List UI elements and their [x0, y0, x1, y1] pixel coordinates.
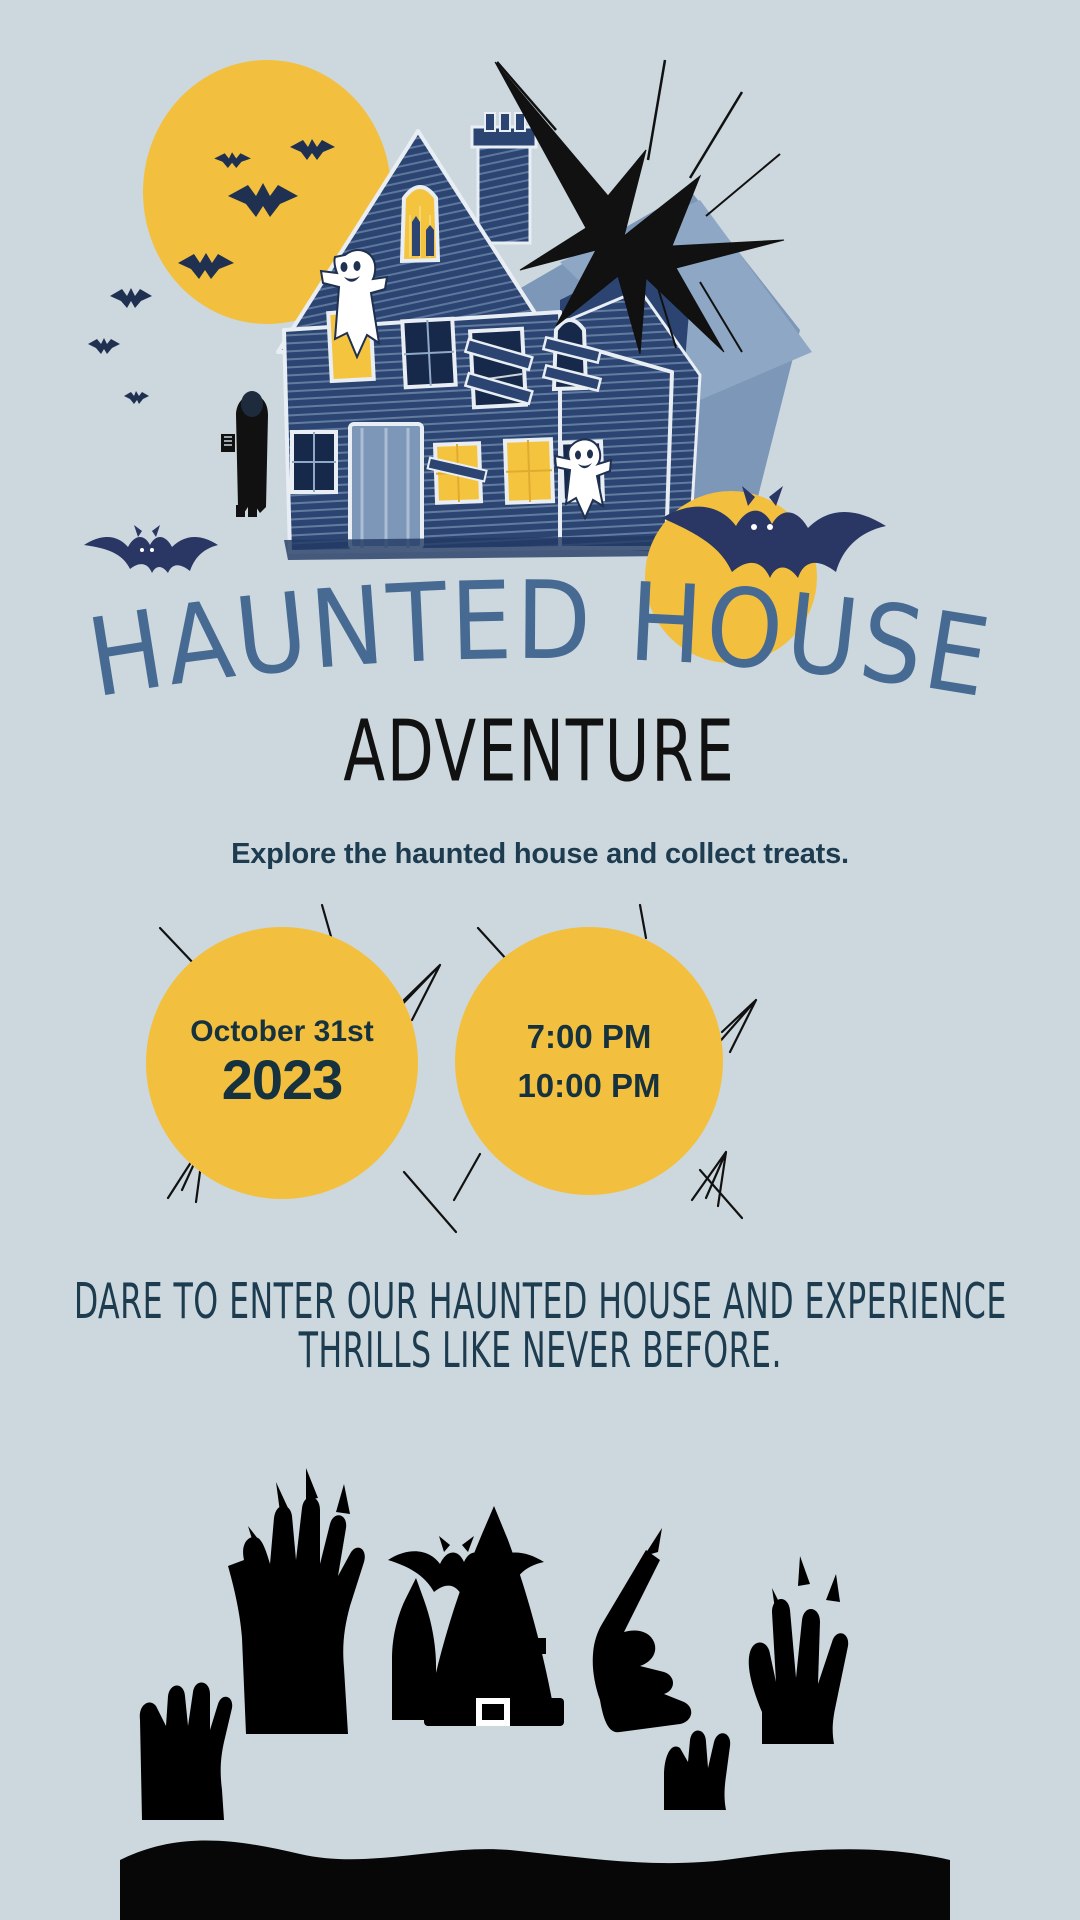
event-date-label: October 31st — [190, 1015, 373, 1050]
front-door — [350, 424, 422, 548]
attic-window — [402, 187, 438, 261]
date-badge: October 31st 2023 — [146, 927, 418, 1199]
event-time-end: 10:00 PM — [517, 1061, 660, 1111]
grim-reaper-icon — [221, 391, 268, 517]
window-broken — [465, 329, 532, 408]
bat-icon — [84, 525, 218, 573]
window-lit-3 — [505, 439, 553, 503]
tagline: Explore the haunted house and collect tr… — [0, 838, 1080, 871]
window-dark-1 — [402, 319, 455, 388]
page-subtitle: ADVENTURE — [0, 705, 1080, 805]
event-time-start: 7:00 PM — [527, 1012, 652, 1062]
zombie-hands-icon — [120, 1468, 950, 1920]
window-dark-2 — [292, 432, 336, 492]
poster-canvas: HAUNTED HOUSE ADVENTURE Explore the haun… — [0, 0, 1080, 1920]
time-badge: 7:00 PM 10:00 PM — [455, 927, 723, 1195]
window-lit-2 — [428, 443, 487, 503]
page-subtitle-text: ADVENTURE — [343, 705, 735, 802]
event-year: 2023 — [222, 1049, 343, 1111]
